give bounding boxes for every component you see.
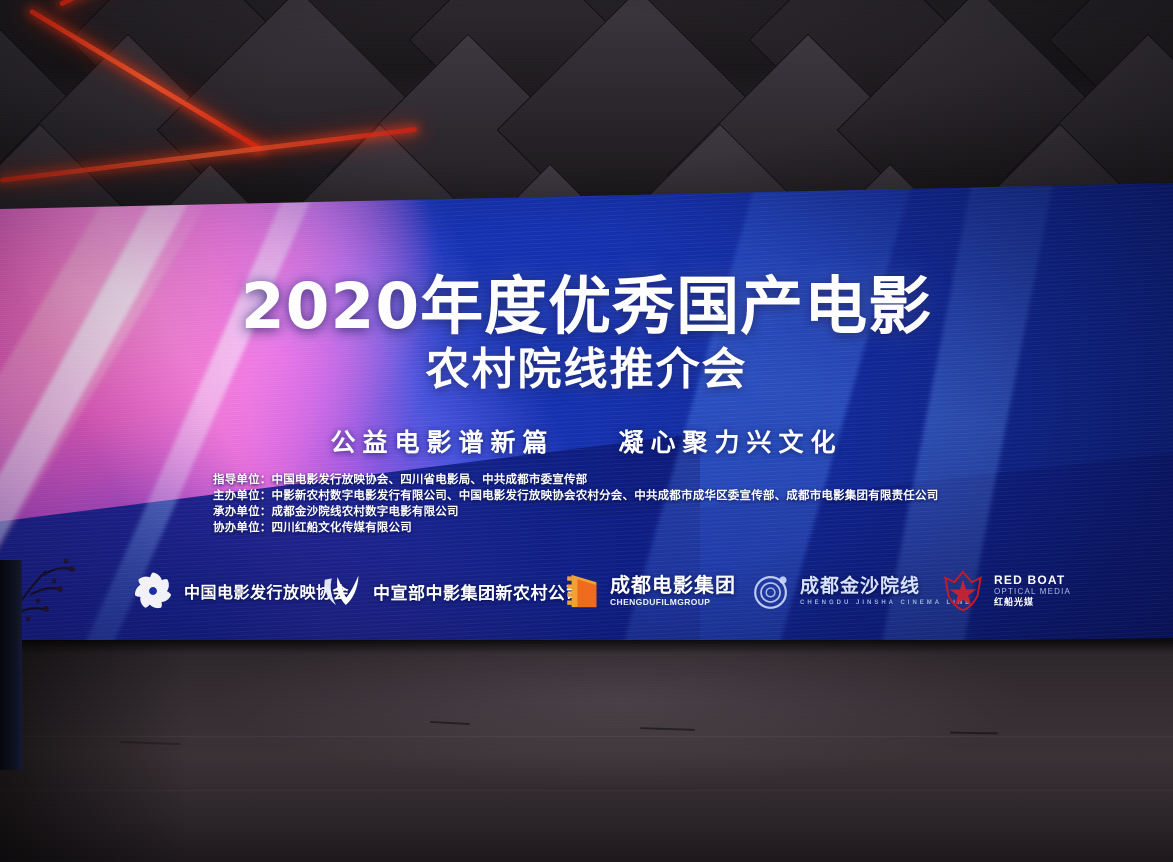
logo-label: 中宣部中影集团新农村公司	[373, 579, 583, 604]
organizer-label: 指导单位：	[213, 472, 272, 486]
logo-label-en-primary: RED BOAT	[994, 574, 1071, 586]
slogan-left: 公益电影谱新篇	[330, 423, 554, 459]
organizer-value: 中国电影发行放映协会、四川省电影局、中共成都市委宣传部	[272, 472, 588, 486]
stage-scene-photo: 2020年度优秀国产电影 农村院线推介会 公益电影谱新篇 凝心聚力兴文化 指导单…	[0, 0, 1173, 862]
logo-chengdu-jinsha-cinema: 成都金沙院线 CHENGDU JINSHA CINEMA LINE	[753, 572, 972, 610]
stage-floor	[0, 640, 1173, 862]
organizer-credits: 指导单位：中国电影发行放映协会、四川省电影局、中共成都市委宣传部 主办单位：中影…	[213, 471, 938, 535]
organizer-value: 中影新农村数字电影发行有限公司、中国电影发行放映协会农村分会、中共成都市成华区委…	[272, 488, 939, 502]
camera-lens-icon	[753, 572, 791, 610]
logo-red-boat-optical-media: RED BOAT OPTICAL MEDIA 红船光媒	[941, 570, 1071, 612]
organizer-value: 成都金沙院线农村数字电影有限公司	[272, 504, 459, 518]
logo-china-film-association: 中国电影发行放映协会	[131, 569, 349, 613]
sponsor-logo-row: 中国电影发行放映协会 中宣部中影集团新农村公司	[0, 561, 1173, 621]
foreground-pillar	[0, 560, 22, 770]
organizer-line: 主办单位：中影新农村数字电影发行有限公司、中国电影发行放映协会农村分会、中共成都…	[213, 487, 938, 503]
organizer-value: 四川红船文化传媒有限公司	[272, 520, 412, 534]
organizer-label: 主办单位：	[213, 488, 272, 502]
hall-ceiling	[0, 0, 1173, 215]
page-subtitle: 农村院线推介会	[0, 333, 1173, 397]
film-strip-icon	[567, 572, 601, 610]
swoosh-icon	[322, 574, 364, 608]
organizer-line: 指导单位：中国电影发行放映协会、四川省电影局、中共成都市委宣传部	[213, 471, 938, 487]
logo-chengdu-film-group: 成都电影集团 CHENGDUFILMGROUP	[567, 572, 736, 610]
logo-cfg-new-countryside: 中宣部中影集团新农村公司	[322, 574, 583, 608]
slogan-row: 公益电影谱新篇 凝心聚力兴文化	[0, 423, 1173, 459]
logo-label-en-secondary: OPTICAL MEDIA	[994, 588, 1071, 596]
red-star-boat-icon	[941, 570, 985, 612]
pinwheel-shutter-icon	[131, 569, 175, 613]
organizer-label: 承办单位：	[213, 504, 272, 518]
logo-sublabel: CHENGDUFILMGROUP	[610, 598, 736, 607]
slogan-right: 凝心聚力兴文化	[619, 423, 843, 459]
organizer-line: 承办单位：成都金沙院线农村数字电影有限公司	[213, 503, 938, 519]
logo-label-cn: 红船光媒	[994, 599, 1071, 608]
led-video-wall: 2020年度优秀国产电影 农村院线推介会 公益电影谱新篇 凝心聚力兴文化 指导单…	[0, 183, 1173, 653]
organizer-line: 协办单位：四川红船文化传媒有限公司	[213, 519, 938, 535]
logo-label: 成都电影集团	[610, 575, 736, 595]
organizer-label: 协办单位：	[213, 520, 272, 534]
